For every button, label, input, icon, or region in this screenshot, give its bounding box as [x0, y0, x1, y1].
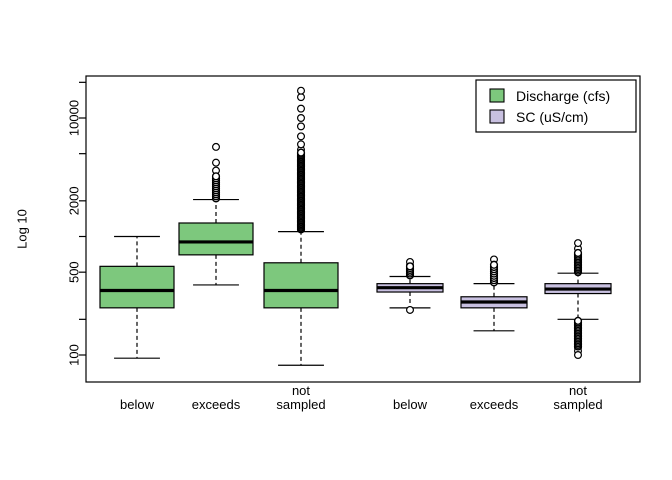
- outlier-cloud-notsampled-sc-lower: [575, 317, 582, 349]
- x-axis-label-text: sampled: [276, 397, 325, 412]
- y-axis-tick-label: 10000: [67, 100, 82, 136]
- chart-canvas: 100500200010000Log 10belowexceedsnotsamp…: [0, 0, 672, 480]
- outlier-point: [298, 141, 305, 148]
- y-axis-tick-label: 2000: [67, 186, 82, 215]
- x-axis-label-text: not: [569, 383, 587, 398]
- legend: Discharge (cfs)SC (uS/cm): [476, 80, 636, 132]
- y-axis: 100500200010000: [67, 82, 87, 366]
- outlier-point: [575, 250, 582, 257]
- legend-swatch-1: [490, 89, 504, 102]
- x-axis-label-1: below: [120, 397, 155, 412]
- outlier-point: [298, 149, 305, 156]
- outlier-point: [298, 94, 305, 101]
- box-1: [100, 237, 174, 359]
- outlier-cloud-exceeds-discharge: [213, 173, 220, 202]
- outlier-point: [298, 115, 305, 122]
- x-axis-label-3: notsampled: [276, 383, 325, 412]
- x-axis-label-text: below: [120, 397, 155, 412]
- outlier-point: [407, 263, 414, 270]
- outlier-point: [213, 159, 220, 166]
- legend-label-2: SC (uS/cm): [516, 109, 588, 125]
- outlier-point: [298, 87, 305, 94]
- x-axis-label-text: exceeds: [192, 397, 241, 412]
- y-axis-tick-label: 100: [67, 344, 82, 366]
- x-axis-label-text: not: [292, 383, 310, 398]
- legend-label-1: Discharge (cfs): [516, 88, 610, 104]
- x-axis-label-text: sampled: [553, 397, 602, 412]
- boxplot-figure: 100500200010000Log 10belowexceedsnotsamp…: [0, 0, 672, 480]
- x-axis-label-4: below: [393, 397, 428, 412]
- outlier-point: [575, 317, 582, 324]
- x-axis-label-2: exceeds: [192, 397, 241, 412]
- legend-swatch-2: [490, 110, 504, 123]
- x-axis-label-5: exceeds: [470, 397, 519, 412]
- outlier-point: [298, 123, 305, 130]
- outlier-point: [213, 144, 220, 151]
- outlier-point: [213, 173, 220, 180]
- outlier-point: [491, 261, 498, 268]
- box-body: [179, 223, 253, 255]
- outlier-point: [407, 307, 414, 314]
- y-axis-tick-label: 500: [67, 261, 82, 283]
- outlier-point: [575, 352, 582, 359]
- x-axis-label-6: notsampled: [553, 383, 602, 412]
- outlier-cloud-below-sc: [407, 263, 414, 279]
- x-axis-label-text: below: [393, 397, 428, 412]
- box-body: [264, 263, 338, 308]
- y-axis-title: Log 10: [15, 209, 30, 249]
- outlier-point: [298, 133, 305, 140]
- box-2: [179, 144, 253, 285]
- box-body: [100, 266, 174, 308]
- outlier-point: [298, 105, 305, 112]
- outlier-cloud-notsampled-discharge: [298, 149, 305, 233]
- x-axis-label-text: exceeds: [470, 397, 519, 412]
- outlier-cloud-notsampled-sc-upper: [575, 250, 582, 276]
- outlier-cloud-exceeds-sc: [491, 261, 498, 285]
- outlier-point: [575, 240, 582, 247]
